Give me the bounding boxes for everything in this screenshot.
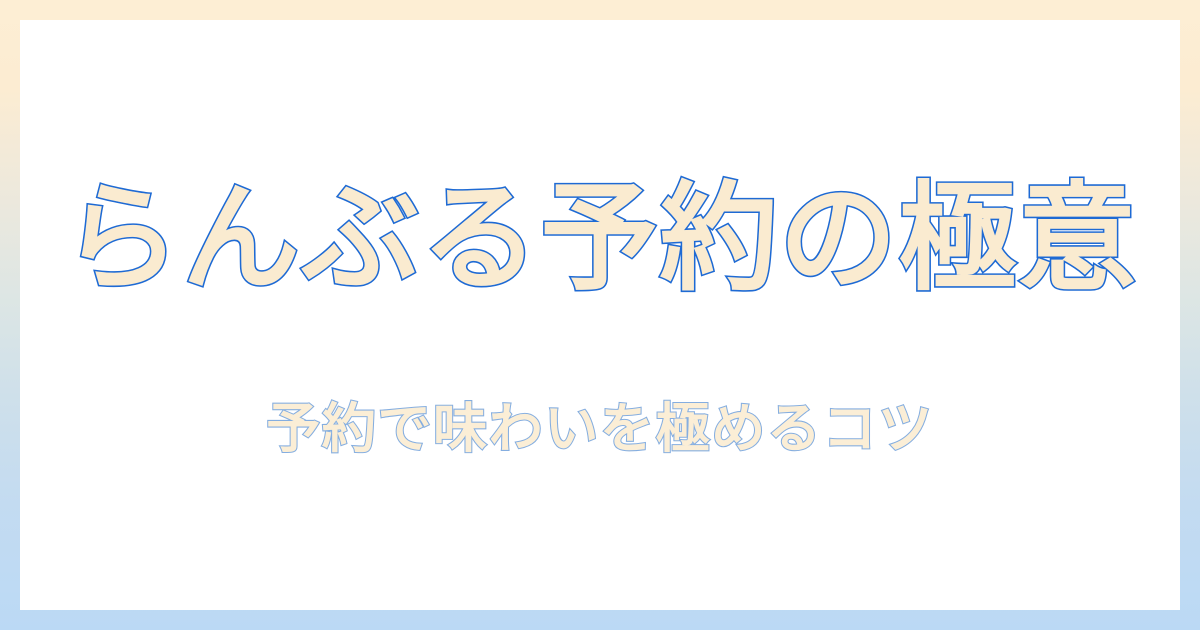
promo-card: らんぶる予約の極意 予約で味わいを極めるコツ	[0, 0, 1200, 630]
page-subtitle: 予約で味わいを極めるコツ	[266, 398, 933, 460]
subtitle-block: 予約で味わいを極めるコツ	[20, 398, 1180, 460]
page-title: らんぶる予約の極意	[63, 175, 1138, 302]
title-block: らんぶる予約の極意	[20, 175, 1180, 302]
card-inner-panel: らんぶる予約の極意 予約で味わいを極めるコツ	[20, 20, 1180, 610]
